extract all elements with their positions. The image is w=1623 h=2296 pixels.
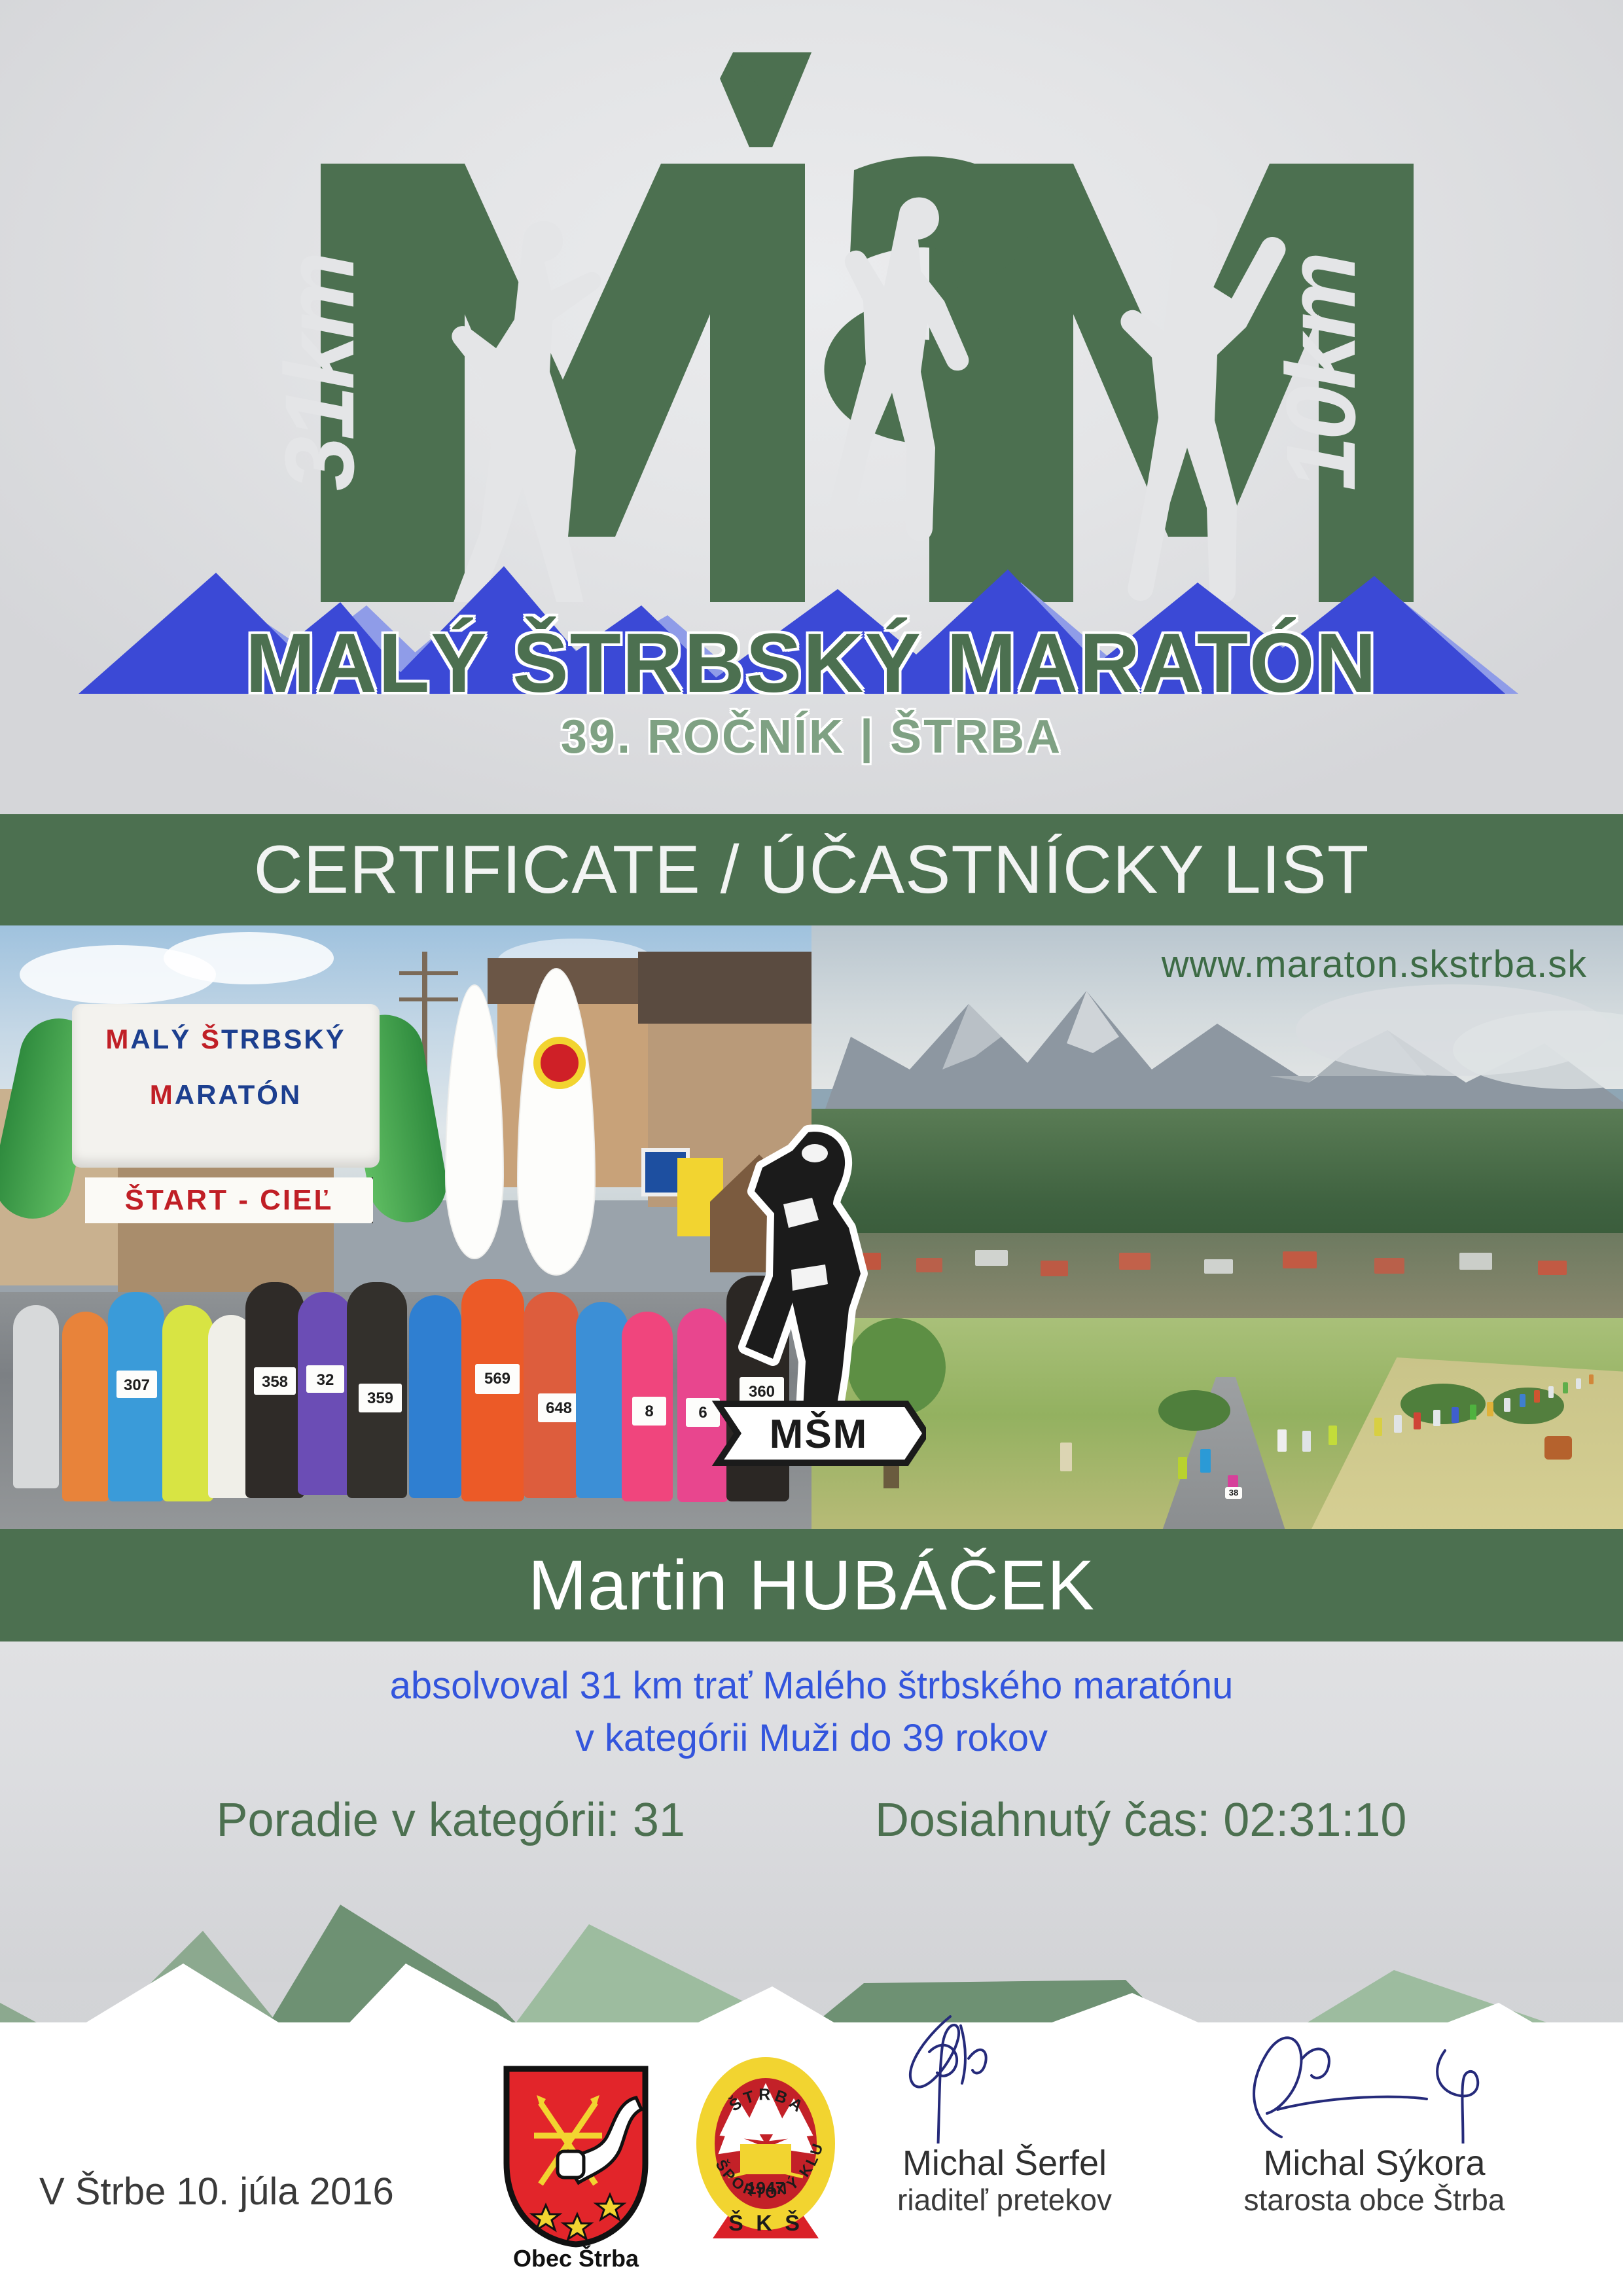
issue-date: V Štrbe 10. júla 2016 — [39, 2170, 393, 2214]
distance-31km-label: 31km — [264, 255, 374, 491]
runner-far — [1414, 1412, 1421, 1429]
village-band — [811, 1233, 1623, 1331]
certificate-page: 31km 10km — [0, 0, 1623, 2296]
village-roof — [1459, 1253, 1492, 1270]
certificate-banner: CERTIFICATE / ÚČASTNÍCKY LIST — [0, 814, 1623, 925]
runner — [576, 1302, 628, 1498]
signature-name: Michal Sýkora — [1204, 2144, 1544, 2183]
runner-far — [1548, 1386, 1554, 1398]
signature-block-director: Michal Šerfel riaditeľ pretekov — [851, 2013, 1158, 2217]
spectator — [1200, 1449, 1211, 1473]
village-roof — [1538, 1261, 1567, 1275]
village-roof — [1204, 1259, 1233, 1274]
runner-far — [1520, 1394, 1525, 1407]
event-title: MALÝ ŠTRBSKÝ MARATÓN — [0, 615, 1623, 711]
village-roof — [1374, 1258, 1404, 1274]
msm-runner-badge: MŠM — [710, 1106, 926, 1473]
distance-10km-label: 10km — [1266, 255, 1376, 491]
sks-logo-on-flag — [533, 1037, 586, 1089]
runner-bib: 32 — [306, 1365, 344, 1393]
start-finish-text: ŠTART - CIEĽ — [85, 1177, 373, 1223]
photo-start-line: MALÝ ŠTRBSKÝ MARATÓN ŠTART - CIEĽ — [0, 925, 811, 1529]
runner-far — [1277, 1429, 1287, 1452]
runner-bib: 359 — [359, 1384, 402, 1412]
runner-bib: 569 — [475, 1364, 520, 1394]
result-row: Poradie v kategórii: 31 Dosiahnutý čas: … — [0, 1793, 1623, 1847]
logo-header: 31km 10km — [0, 0, 1623, 814]
village-roof — [1119, 1253, 1150, 1270]
svg-text:31km: 31km — [264, 255, 374, 491]
runner-bib: 8 — [632, 1397, 666, 1426]
runner-far — [1178, 1457, 1187, 1479]
sks-strba-emblem: 1947 ŠTRBA ŠPORTOVÝ KLUB Š K Š — [690, 2049, 841, 2245]
runner-far — [1452, 1407, 1459, 1423]
event-subtitle: 39. ROČNÍK | ŠTRBA — [0, 710, 1623, 764]
runner — [162, 1305, 213, 1501]
runner-bib: 38 — [1225, 1487, 1242, 1499]
runner-far — [1329, 1426, 1337, 1445]
svg-text:10km: 10km — [1266, 255, 1376, 491]
bush — [1158, 1390, 1230, 1431]
msm-logo: 31km 10km — [157, 39, 1466, 602]
runner-far — [1563, 1382, 1568, 1393]
photo-country-road: 38 — [811, 925, 1623, 1529]
runner-far — [1487, 1402, 1493, 1416]
village-roof — [1041, 1261, 1068, 1276]
obec-strba-label: Obec Štrba — [481, 2245, 671, 2272]
msm-banner-ribbon: MŠM — [718, 1404, 926, 1463]
runner — [409, 1295, 461, 1498]
village-roof — [975, 1250, 1008, 1266]
runner-bib: 648 — [538, 1393, 580, 1422]
pole-crossbar — [399, 997, 458, 1001]
pole-crossbar — [399, 971, 458, 975]
start-finish-banner: ŠTART - CIEĽ — [85, 1177, 373, 1223]
msm-logo-svg: 31km 10km — [157, 39, 1466, 602]
runner-bib: 358 — [254, 1367, 296, 1395]
signature-name: Michal Šerfel — [851, 2144, 1158, 2183]
website-url[interactable]: www.maraton.skstrba.sk — [1132, 942, 1616, 986]
arch-title-line2: MARATÓN — [72, 1079, 380, 1111]
runner-far — [1470, 1405, 1476, 1420]
village-roof — [1283, 1251, 1317, 1268]
runner — [62, 1312, 109, 1501]
certificate-banner-text: CERTIFICATE / ÚČASTNÍCKY LIST — [0, 814, 1623, 925]
runner — [298, 1292, 353, 1495]
runner-far — [1302, 1431, 1311, 1452]
runner-bib: 307 — [116, 1371, 157, 1398]
roof — [638, 952, 811, 1024]
spectator — [1060, 1443, 1072, 1471]
runner-far — [1504, 1398, 1510, 1412]
runner-far — [1433, 1410, 1440, 1426]
time-label: Dosiahnutý čas: 02:31:10 — [875, 1793, 1407, 1847]
runner-far — [1394, 1415, 1402, 1433]
description-line-2: v kategórii Muži do 39 rokov — [0, 1716, 1623, 1760]
signature-block-mayor: Michal Sýkora starosta obce Štrba — [1204, 2013, 1544, 2217]
runner-far — [1374, 1418, 1382, 1436]
runner-far — [1576, 1378, 1581, 1389]
obec-strba-emblem — [497, 2065, 654, 2248]
sks-bottom-text: Š K Š — [728, 2210, 803, 2236]
participant-name-bar: Martin HUBÁČEK — [0, 1529, 1623, 1641]
rank-label: Poradie v kategórii: 31 — [217, 1793, 685, 1847]
arch-title-line1: MALÝ ŠTRBSKÝ — [72, 1024, 380, 1055]
signature-mark-serfel — [851, 2013, 1158, 2144]
runner-far — [1534, 1390, 1540, 1403]
participant-name: Martin HUBÁČEK — [0, 1529, 1623, 1641]
cloud — [164, 932, 334, 984]
signature-mark-sykora — [1204, 2013, 1544, 2144]
runner-far — [1589, 1374, 1594, 1384]
cow — [1544, 1436, 1572, 1460]
runner — [13, 1305, 59, 1488]
description-line-1: absolvoval 31 km trať Malého štrbského m… — [0, 1664, 1623, 1708]
signature-role: riaditeľ pretekov — [851, 2183, 1158, 2217]
svg-text:MŠM: MŠM — [770, 1412, 868, 1457]
signature-role: starosta obce Štrba — [1204, 2183, 1544, 2217]
